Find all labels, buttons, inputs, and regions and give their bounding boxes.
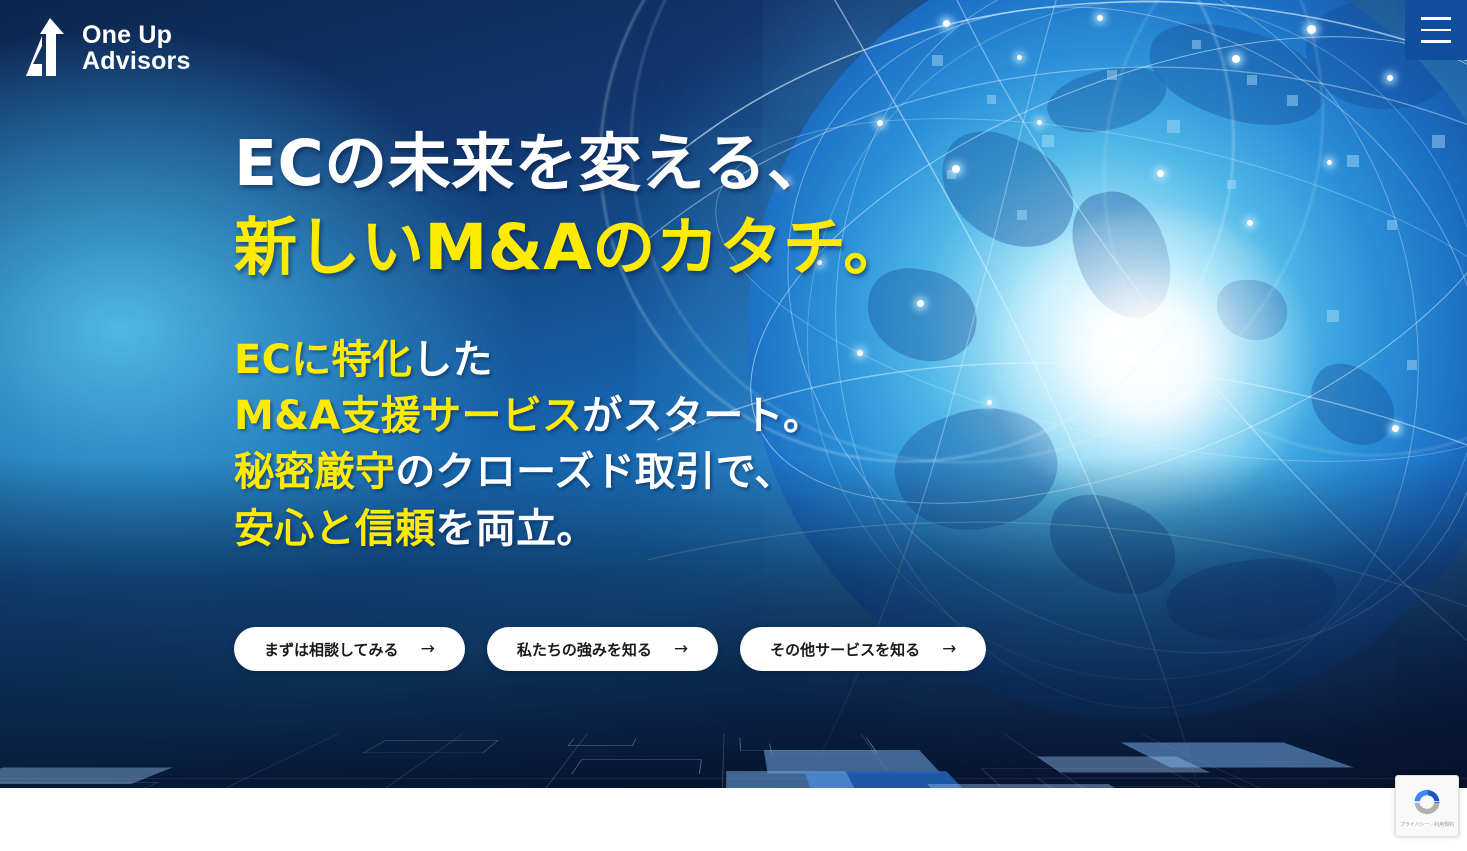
recaptcha-logo-icon (1410, 785, 1444, 819)
recaptcha-badge[interactable]: プライバシー - 利用規約 (1395, 775, 1459, 837)
subheadline-plain: がスタート。 (582, 393, 823, 439)
hamburger-menu-icon[interactable] (1405, 0, 1467, 60)
subheadline-highlight: M&A支援サービス (234, 393, 582, 439)
arrow-right-icon: → (421, 641, 435, 658)
site-logo[interactable]: One Up Advisors (20, 14, 191, 82)
headline-line-2: 新しいM&Aのカタチ。 (234, 211, 907, 284)
subheadline-line: M&A支援サービスがスタート。 (234, 388, 907, 444)
strengths-button-label: 私たちの強みを知る (517, 639, 652, 660)
arrow-right-icon: → (942, 641, 956, 658)
consult-button[interactable]: まずは相談してみる → (234, 627, 465, 671)
cta-button-row: まずは相談してみる → 私たちの強みを知る → その他サービスを知る → (234, 627, 986, 671)
recaptcha-terms-text[interactable]: プライバシー - 利用規約 (1400, 821, 1454, 828)
menu-bar-1 (1421, 17, 1451, 20)
logo-wordmark: One Up Advisors (82, 22, 191, 75)
subheadline-highlight: 安心と信頼 (234, 506, 436, 552)
subheadline-plain: した (412, 337, 493, 383)
subheadline-highlight: 秘密厳守 (234, 449, 395, 495)
subheadline-highlight: ECに特化 (234, 337, 412, 383)
logo-line-2: Advisors (82, 48, 191, 75)
subheadline-line: 安心と信頼を両立。 (234, 501, 907, 557)
headline-line-1: ECの未来を変える、 (234, 127, 830, 200)
subheadline-line: 秘密厳守のクローズド取引で、 (234, 444, 907, 500)
page-title: ECの未来を変える、 新しいM&Aのカタチ。 (234, 122, 907, 290)
hero-section: One Up Advisors ECの未来を変える、 新しいM&Aのカタチ。 E… (0, 0, 1467, 788)
consult-button-label: まずは相談してみる (264, 639, 399, 660)
menu-bar-3 (1421, 40, 1451, 43)
menu-bar-2 (1421, 29, 1451, 32)
upward-arrow-icon (20, 14, 72, 82)
other-services-button[interactable]: その他サービスを知る → (740, 627, 986, 671)
other-services-button-label: その他サービスを知る (770, 639, 920, 660)
hero-subheadline: ECに特化した M&A支援サービスがスタート。 秘密厳守のクローズド取引で、 安… (234, 332, 907, 558)
subheadline-line: ECに特化した (234, 332, 907, 388)
subheadline-plain: のクローズド取引で、 (395, 449, 794, 495)
subheadline-plain: を両立。 (436, 506, 597, 552)
strengths-button[interactable]: 私たちの強みを知る → (487, 627, 718, 671)
logo-line-1: One Up (82, 22, 191, 49)
hero-copy: ECの未来を変える、 新しいM&Aのカタチ。 ECに特化した M&A支援サービス… (234, 122, 907, 557)
arrow-right-icon: → (674, 641, 688, 658)
